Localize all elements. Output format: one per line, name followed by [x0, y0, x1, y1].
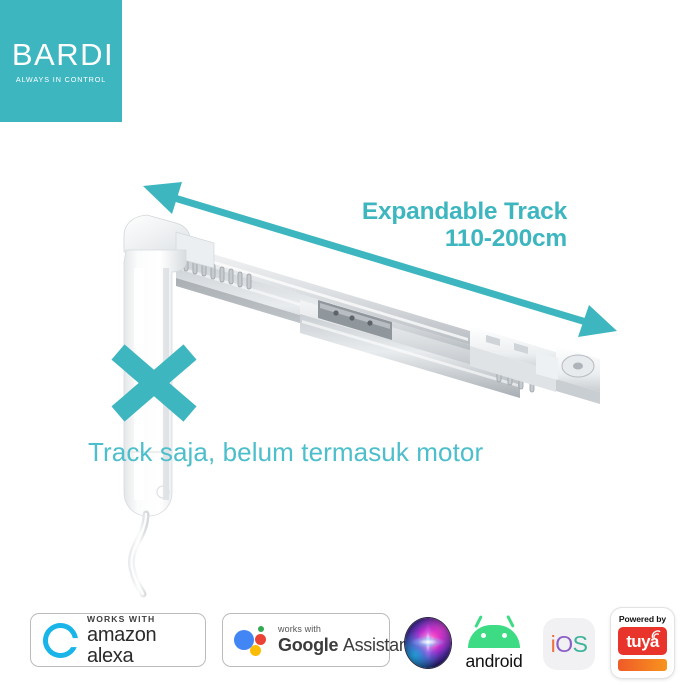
alexa-wordmark: amazon alexa [87, 625, 193, 667]
headline: Expandable Track 110-200cm [362, 198, 567, 253]
badge-tuya: Powered by tuya [611, 608, 674, 678]
tuya-accent-bar [618, 659, 667, 671]
tuya-powered-by-label: Powered by [619, 614, 666, 624]
badge-amazon-alexa: WORKS WITH amazon alexa [30, 613, 206, 667]
ios-tile-icon: iOS [543, 618, 595, 670]
google-assistant-dots-icon [234, 623, 270, 657]
assistant-wordmark: Assistant [343, 635, 413, 655]
track-end-cap [536, 346, 600, 404]
android-wordmark: android [466, 651, 523, 672]
caption-text: Track saja, belum termasuk motor [88, 437, 483, 468]
alexa-ring-icon [36, 616, 84, 664]
brand-name: BARDI [12, 39, 114, 70]
google-works-with-label: works with [278, 624, 413, 634]
alexa-works-with-label: WORKS WITH [87, 614, 193, 624]
brand-logo-block: BARDI ALWAYS IN CONTROL [0, 0, 122, 122]
badge-siri [405, 618, 451, 668]
ios-letter-o: O [555, 631, 572, 657]
headline-line-1: Expandable Track [362, 198, 567, 225]
compatibility-badges: WORKS WITH amazon alexa works with Googl… [0, 600, 700, 700]
google-wordmark: Google [278, 635, 338, 655]
siri-orb-icon [405, 618, 451, 668]
tuya-logo-icon: tuya [618, 627, 667, 655]
headline-line-2: 110-200cm [362, 225, 567, 252]
badge-android: android [465, 615, 523, 672]
curtain-track [176, 243, 534, 398]
android-robot-icon [465, 615, 523, 648]
brand-tagline: ALWAYS IN CONTROL [16, 74, 106, 83]
badge-google-assistant: works with Google Assistant [222, 613, 390, 667]
wifi-arc-icon [651, 630, 662, 640]
product-marketing-image: BARDI ALWAYS IN CONTROL Expandable Track… [0, 0, 700, 700]
ios-letter-s: S [573, 631, 588, 657]
badge-ios: iOS [543, 618, 595, 670]
